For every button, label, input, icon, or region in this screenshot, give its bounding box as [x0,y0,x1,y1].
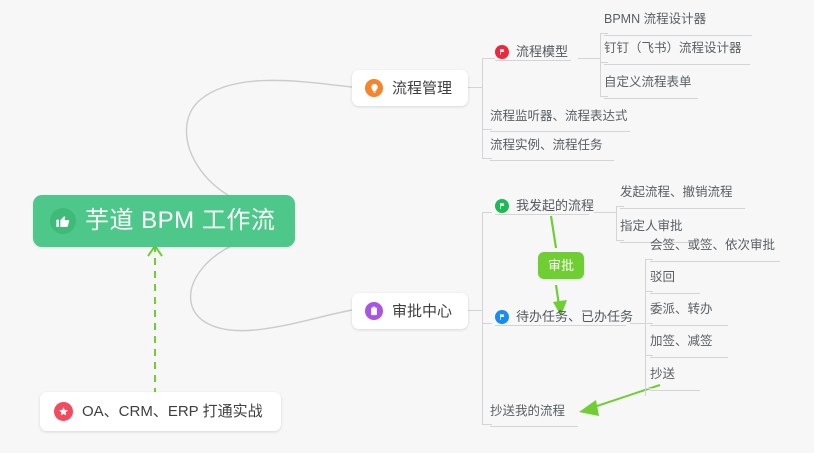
mindmap-canvas: 芋道 BPM 工作流 流程管理 流程模型 BPMN 流程设计器 钉钉（飞书）流程… [0,0,814,453]
underline-instance [490,160,614,161]
underline-dingtalk [604,64,750,65]
node-cc[interactable]: 抄送 [650,368,675,386]
node-assignee-approval-label: 指定人审批 [620,220,683,234]
connector-mine-c1 [616,206,624,207]
branch-process-management-label: 流程管理 [392,81,452,96]
approve-arrow-upper [551,216,556,248]
node-dingtalk-designer-label: 钉钉（飞书）流程设计器 [604,42,742,56]
node-bpmn-designer[interactable]: BPMN 流程设计器 [604,13,706,31]
node-oa-crm-erp[interactable]: OA、CRM、ERP 打通实战 [40,392,281,431]
node-oa-crm-erp-label: OA、CRM、ERP 打通实战 [82,404,263,419]
connector-model-c1 [600,33,608,34]
connector-to-instance [482,158,492,159]
node-cc-label: 抄送 [650,368,675,382]
underline-listener [490,131,630,132]
node-process-listener[interactable]: 流程监听器、流程表达式 [490,110,628,128]
root-node[interactable]: 芋道 BPM 工作流 [33,195,295,247]
node-start-cancel[interactable]: 发起流程、撤销流程 [620,186,733,204]
node-start-cancel-label: 发起流程、撤销流程 [620,186,733,200]
connector-todo-c1 [645,259,653,260]
node-todo-done-tasks[interactable]: 待办任务、已办任务 [495,310,633,328]
connector-model-spine [600,33,601,97]
node-delegate-transfer[interactable]: 委派、转办 [650,303,713,321]
connector-mine-c2 [616,240,624,241]
node-process-model-label: 流程模型 [516,45,568,59]
star-icon [54,402,73,421]
connector-model-c3 [600,96,608,97]
node-add-remove-sign[interactable]: 加签、减签 [650,335,713,353]
branch-approval-center-label: 审批中心 [392,304,452,319]
connector-to-ccmine [482,424,492,425]
approve-arrow-lower [556,285,560,312]
flag-icon [495,45,509,59]
underline-countersign [650,261,780,262]
underline-addsign [650,357,728,358]
node-countersign-label: 会签、或签、依次审批 [650,239,775,253]
underline-start-cancel [620,208,745,209]
flag-icon [495,199,509,213]
clipboard-icon [365,302,383,320]
connector-to-listener [482,129,492,130]
node-dingtalk-designer[interactable]: 钉钉（飞书）流程设计器 [604,42,742,60]
underline-cc [650,390,700,391]
node-reject-label: 驳回 [650,271,675,285]
flag-icon [495,310,509,324]
link-root-to-process [186,80,352,212]
connector-process-spine [482,58,483,158]
underline-ccmine [490,426,578,427]
connector-mine-spine [616,206,617,240]
connector-todo-c5 [645,388,653,389]
lightbulb-icon [365,79,383,97]
cc-arrowhead [579,400,599,416]
node-delegate-transfer-label: 委派、转办 [650,303,713,317]
connector-to-mine [482,212,492,213]
node-custom-form-label: 自定义流程表单 [604,76,692,90]
node-process-instance-label: 流程实例、流程任务 [490,139,603,153]
thumbs-up-icon [50,208,76,234]
connector-todo-c2 [645,291,653,292]
node-my-initiated[interactable]: 我发起的流程 [495,199,594,217]
node-countersign[interactable]: 会签、或签、依次审批 [650,239,775,257]
node-process-model[interactable]: 流程模型 [495,45,568,63]
node-assignee-approval[interactable]: 指定人审批 [620,220,683,238]
dashed-link-arrowhead [148,246,162,256]
node-add-remove-sign-label: 加签、减签 [650,335,713,349]
connector-to-model [482,58,495,59]
underline-delegate [650,325,728,326]
node-cc-to-me-label: 抄送我的流程 [490,405,565,419]
connector-to-todo [482,323,492,324]
connector-approval-spine [482,212,483,424]
node-custom-form[interactable]: 自定义流程表单 [604,76,692,94]
node-cc-to-me[interactable]: 抄送我的流程 [490,405,565,423]
tag-approve[interactable]: 审批 [538,252,584,279]
node-reject[interactable]: 驳回 [650,271,675,289]
root-label: 芋道 BPM 工作流 [85,209,275,233]
connector-todo-c3 [645,323,653,324]
node-my-initiated-label: 我发起的流程 [516,199,594,213]
node-todo-done-tasks-label: 待办任务、已办任务 [516,310,633,324]
connector-mine-stub [594,212,616,213]
branch-approval-center[interactable]: 审批中心 [352,293,468,329]
node-process-listener-label: 流程监听器、流程表达式 [490,110,628,124]
connector-model-stub [578,58,600,59]
connector-todo-c4 [645,355,653,356]
tag-approve-label: 审批 [548,258,574,273]
node-bpmn-designer-label: BPMN 流程设计器 [604,13,706,27]
node-process-instance[interactable]: 流程实例、流程任务 [490,139,603,157]
underline-bpmn [604,35,752,36]
connector-model-c2 [600,62,608,63]
underline-customform [604,98,698,99]
connector-todo-spine [645,259,646,396]
branch-process-management[interactable]: 流程管理 [352,70,468,106]
underline-reject [650,293,700,294]
